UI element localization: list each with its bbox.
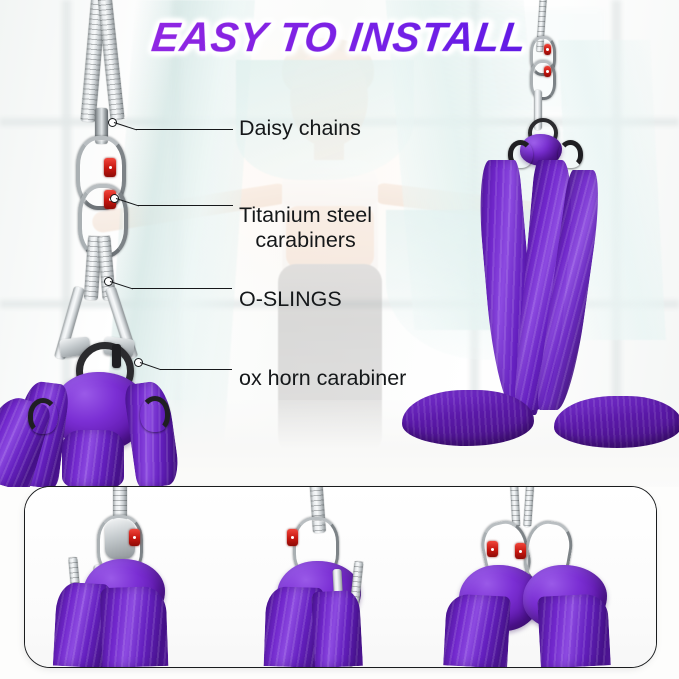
detail-panel (24, 486, 657, 668)
carabiner-lock-sleeve (544, 66, 551, 77)
carabiner-lock-sleeve (104, 158, 116, 177)
callout-leader-daisy-chains (136, 129, 233, 130)
daisy-chain-stitching (97, 0, 124, 120)
ox-horn-gate (112, 344, 121, 368)
silk-drape (62, 430, 124, 487)
callout-leader-titanium-carabiners (138, 205, 233, 206)
carabiner-lock-sleeve (287, 529, 298, 546)
detail-cell-knot-mid (225, 487, 425, 667)
detail-cell-knot-pair (425, 487, 656, 667)
silk-drape (311, 590, 363, 667)
callout-label-daisy-chains: Daisy chains (239, 116, 361, 141)
silk-side-hook (28, 398, 58, 434)
callout-leader-o-slings (132, 288, 232, 289)
silk-pooled-fabric-left (402, 390, 534, 446)
silk-drape (100, 586, 169, 667)
callout-leader-ox-horn-carabiner (160, 369, 232, 370)
silk-pooled-fabric-right (554, 396, 679, 448)
daisy-chain-stitching (523, 487, 535, 527)
silk-drape-right (537, 593, 611, 667)
main-product-scene: Daisy chains Titanium steel carabiners O… (0, 0, 679, 487)
daisy-chain-webbing (523, 487, 535, 527)
callout-label-titanium-carabiners: Titanium steel carabiners (239, 203, 372, 253)
callout-label-ox-horn-carabiner: ox horn carabiner (239, 366, 406, 391)
callout-label-o-slings: O-SLINGS (239, 287, 342, 312)
daisy-chain-webbing (97, 0, 124, 120)
carabiner-lock-sleeve (515, 543, 526, 559)
detail-cell-knot-left (25, 487, 225, 667)
carabiner-lock-sleeve (487, 541, 498, 557)
carabiner-lock-sleeve (544, 44, 551, 55)
silk-side-hook (140, 396, 170, 432)
carabiner-lock-sleeve (129, 529, 140, 546)
product-infographic: Daisy chains Titanium steel carabiners O… (0, 0, 679, 679)
right-rigging-stack (480, 0, 679, 487)
left-rigging-stack (0, 0, 200, 487)
silk-drape-left (443, 593, 511, 667)
